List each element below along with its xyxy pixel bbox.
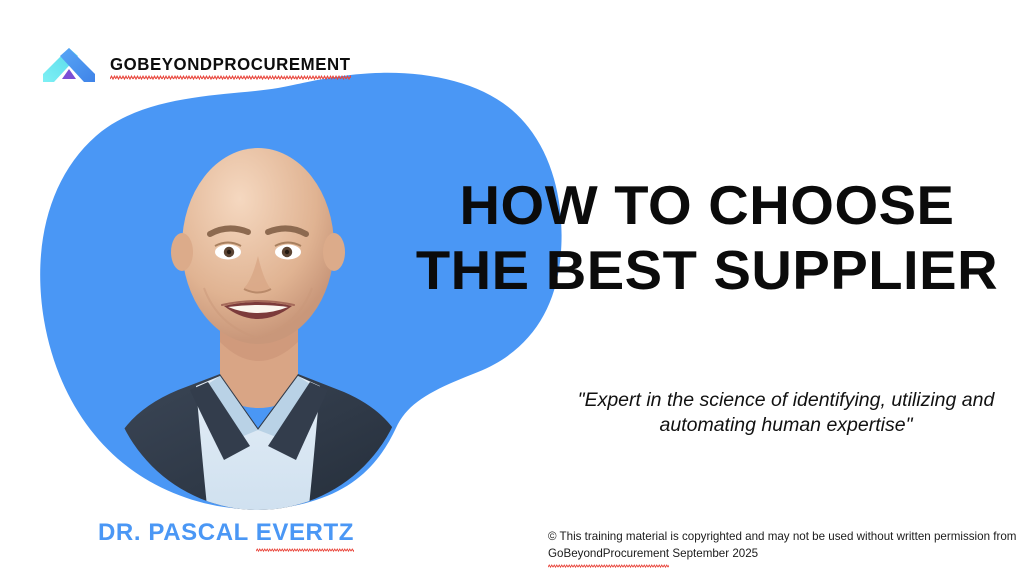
copyright-text-after: September 2025 [669,547,758,560]
copyright-company-text: GoBeyondProcurement [548,547,669,560]
spellcheck-underline-icon [548,564,669,568]
copyright-notice: © This training material is copyrighted … [548,528,1018,563]
brand-logo[interactable]: GOBEYONDPROCUREMENT [42,44,361,86]
speaker-portrait: Portrait of Dr. Pascal Evertz, bald smil… [108,128,408,516]
page-title: HOW TO CHOOSE THE BEST SUPPLIER [400,176,1014,301]
speaker-surname-text: EVERTZ [256,519,354,546]
spellcheck-underline-icon [256,548,354,552]
speaker-name-prefix: DR. PASCAL [98,519,256,546]
brand-wordmark: GOBEYONDPROCUREMENT [110,56,351,74]
title-line-1: HOW TO CHOOSE [394,176,1020,235]
spellcheck-underline-icon [110,75,351,80]
title-line-2: THE BEST SUPPLIER [394,241,1020,300]
copyright-text-before: © This training material is copyrighted … [548,530,1016,543]
presentation-slide: Portrait of Dr. Pascal Evertz, bald smil… [0,0,1024,573]
speaker-name: DR. PASCAL EVERTZ [98,519,354,547]
chevron-logo-icon [42,44,96,86]
brand-wordmark-text: GOBEYONDPROCUREMENT [110,54,351,74]
copyright-company: GoBeyondProcurement [548,545,669,562]
speaker-surname: EVERTZ [256,519,354,547]
speaker-quote: "Expert in the science of identifying, u… [560,388,1012,438]
